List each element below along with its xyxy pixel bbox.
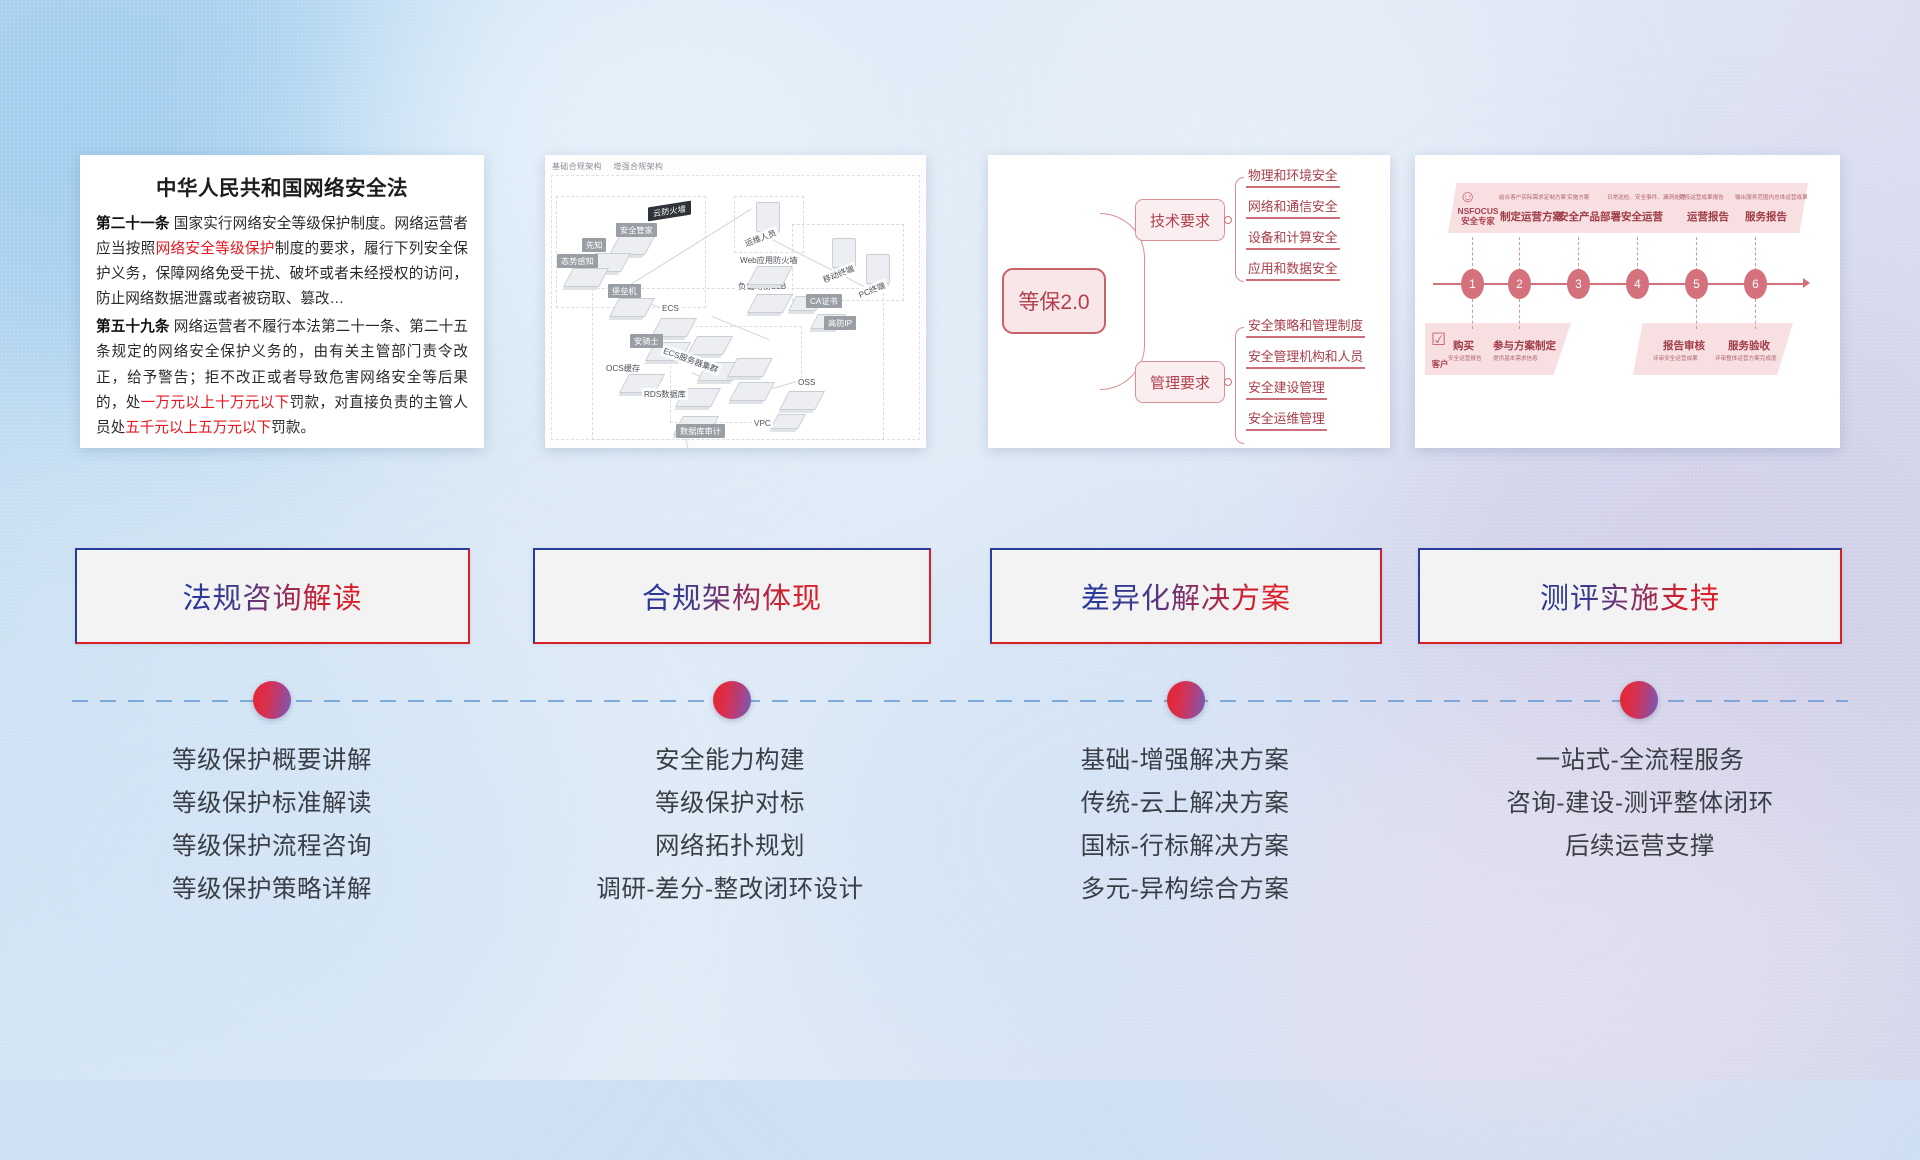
timeline-step-3: 3 xyxy=(1567,269,1590,299)
architecture-node-taishiganzhi: 态势感知 xyxy=(557,254,598,268)
section-title-label: 差异化解决方案 xyxy=(1081,575,1291,617)
timeline-stage-sub: 安全运营报告 xyxy=(1448,354,1482,362)
mindmap-collapse-dot[interactable] xyxy=(1224,378,1232,386)
law-article-number: 第五十九条 xyxy=(96,319,170,335)
architecture-tab-enhanced[interactable]: 增强合规架构 xyxy=(613,162,663,171)
timeline-tick xyxy=(1755,299,1756,329)
law-text-highlight: 五千元以上五万元以下 xyxy=(125,420,271,436)
architecture-node-vpc: VPC xyxy=(752,419,773,428)
mindmap-leaf: 安全运维管理 xyxy=(1246,408,1327,431)
timeline-stage-sub: 阶段运营成果报告 xyxy=(1679,193,1724,201)
timeline-tick xyxy=(1696,237,1697,271)
timeline-stage-title: 安全产品部署 xyxy=(1558,209,1621,224)
architecture-icon-pc xyxy=(866,254,890,284)
timeline-stage-title: 购买 xyxy=(1453,338,1474,353)
law-text-highlight: 网络安全等级保护 xyxy=(156,241,275,257)
timeline-step-4: 4 xyxy=(1626,269,1649,299)
law-title: 中华人民共和国网络安全法 xyxy=(96,171,468,201)
law-paragraph-21: 第二十一条 国家实行网络安全等级保护制度。网络运营者应当按照网络安全等级保护制度… xyxy=(96,212,468,312)
timeline-stage-sub: 提供基本需求信息 xyxy=(1493,354,1538,362)
architecture-node-baolei: 堡垒机 xyxy=(608,284,641,298)
list-item: 后续运营支撑 xyxy=(1430,826,1850,869)
customer-icon: ☑ xyxy=(1431,331,1446,348)
timeline-dashed-line xyxy=(72,700,1848,702)
section-title-label: 测评实施支持 xyxy=(1540,575,1720,617)
architecture-node-xianzhi: 先知 xyxy=(582,238,606,252)
card-djcp-mindmap[interactable]: 等保2.0 技术要求 管理要求 物理和环境安全 网络和通信安全 设备和计算安全 … xyxy=(988,155,1390,448)
mindmap-leaf: 设备和计算安全 xyxy=(1246,227,1340,250)
mindmap-leaf: 安全建设管理 xyxy=(1246,377,1327,400)
timeline-step-1: 1 xyxy=(1461,269,1484,299)
section-title-label: 法规咨询解读 xyxy=(182,575,362,617)
timeline-marker-3 xyxy=(1167,681,1205,719)
timeline-step-2: 2 xyxy=(1508,269,1531,299)
mindmap-root: 等保2.0 xyxy=(1002,268,1106,334)
list-item: 等级保护概要讲解 xyxy=(62,740,482,783)
architecture-node-gaofang-ip: 高防IP xyxy=(824,316,856,330)
timeline-marker-2 xyxy=(713,681,751,719)
architecture-node-anqishi: 安骑士 xyxy=(630,334,663,348)
architecture-node-waf: Web应用防火墙 xyxy=(738,254,800,266)
list-item: 等级保护标准解读 xyxy=(62,783,482,826)
card-compliance-architecture[interactable]: 基础合规架构 增强合规架构 xyxy=(545,155,926,448)
architecture-tab-basic[interactable]: 基础合规架构 xyxy=(552,162,602,171)
list-item: 传统-云上解决方案 xyxy=(975,783,1395,826)
timeline-stage-title: 安全运营 xyxy=(1621,209,1663,224)
mindmap-collapse-dot[interactable] xyxy=(1224,216,1232,224)
architecture-node-anquanguanjia: 安全管家 xyxy=(616,223,657,237)
timeline-connector xyxy=(0,690,1920,712)
list-item: 基础-增强解决方案 xyxy=(975,740,1395,783)
list-item: 一站式-全流程服务 xyxy=(1430,740,1850,783)
expert-icon: ☺ xyxy=(1459,188,1476,205)
timeline-tick xyxy=(1472,299,1473,329)
section-title-box-3[interactable]: 差异化解决方案 xyxy=(990,548,1382,644)
timeline-stage-sub: 实施方案 xyxy=(1567,193,1589,201)
timeline-step-5: 5 xyxy=(1685,269,1708,299)
timeline-stage-sub: 评审整体运营方案完成度 xyxy=(1715,354,1777,362)
preview-card-row: 中华人民共和国网络安全法 第二十一条 国家实行网络安全等级保护制度。网络运营者应… xyxy=(0,155,1920,448)
list-item: 调研-差分-整改闭环设计 xyxy=(520,869,940,912)
architecture-node-rds: RDS数据库 xyxy=(642,388,688,400)
law-text: 罚款。 xyxy=(271,420,315,436)
mindmap-leaf: 安全管理机构和人员 xyxy=(1246,346,1365,369)
section-title-box-4[interactable]: 测评实施支持 xyxy=(1418,548,1842,644)
timeline-step-6: 6 xyxy=(1744,269,1767,299)
section-detail-list-4: 一站式-全流程服务 咨询-建设-测评整体闭环 后续运营支撑 xyxy=(1430,740,1850,869)
list-item: 等级保护策略详解 xyxy=(62,869,482,912)
mindmap-branch-technical: 技术要求 xyxy=(1135,199,1225,241)
list-item: 多元-异构综合方案 xyxy=(975,869,1395,912)
mindmap-leaf: 安全策略和管理制度 xyxy=(1246,315,1365,338)
timeline-stage-sub: 日常巡检、安全事件、漏洞处理 xyxy=(1607,193,1685,201)
timeline-stage-title: 制定运营方案 xyxy=(1500,209,1563,224)
architecture-tabs: 基础合规架构 增强合规架构 xyxy=(552,161,672,172)
timeline-tick xyxy=(1637,237,1638,271)
timeline-stage-title: 服务验收 xyxy=(1728,338,1770,353)
timeline-marker-4 xyxy=(1620,681,1658,719)
timeline-tick xyxy=(1519,299,1520,329)
section-detail-list-3: 基础-增强解决方案 传统-云上解决方案 国标-行标解决方案 多元-异构综合方案 xyxy=(975,740,1395,912)
timeline-marker-1 xyxy=(253,681,291,719)
architecture-node-oss: OSS xyxy=(796,378,817,387)
architecture-node-ecs: ECS xyxy=(660,304,681,313)
architecture-node-ca: CA证书 xyxy=(806,294,842,308)
section-detail-list-2: 安全能力构建 等级保护对标 网络拓扑规划 调研-差分-整改闭环设计 xyxy=(520,740,940,912)
timeline-stage-title: 运营报告 xyxy=(1687,209,1729,224)
section-title-box-1[interactable]: 法规咨询解读 xyxy=(75,548,470,644)
list-item: 国标-行标解决方案 xyxy=(975,826,1395,869)
architecture-canvas: 云防火墙 安全管家 先知 态势感知 堡垒机 ECS 安骑士 xyxy=(551,175,920,440)
list-item: 咨询-建设-测评整体闭环 xyxy=(1430,783,1850,826)
timeline-axis-arrow xyxy=(1803,278,1810,288)
timeline-tick xyxy=(1472,237,1473,271)
slide-stage: 中华人民共和国网络安全法 第二十一条 国家实行网络安全等级保护制度。网络运营者应… xyxy=(0,0,1920,1080)
timeline-stage-sub: 输出服务范围内总体运营成果 xyxy=(1735,193,1808,201)
list-item: 网络拓扑规划 xyxy=(520,826,940,869)
section-title-box-2[interactable]: 合规架构体现 xyxy=(533,548,931,644)
list-item: 等级保护对标 xyxy=(520,783,940,826)
timeline-stage-sub: 结合客户实际需求定制方案 xyxy=(1499,193,1566,201)
architecture-diagram: 基础合规架构 增强合规架构 xyxy=(545,155,926,448)
timeline-tick xyxy=(1755,237,1756,271)
timeline-stage-title: 报告审核 xyxy=(1663,338,1705,353)
list-item: 等级保护流程咨询 xyxy=(62,826,482,869)
card-cybersecurity-law[interactable]: 中华人民共和国网络安全法 第二十一条 国家实行网络安全等级保护制度。网络运营者应… xyxy=(80,155,484,448)
section-detail-list-1: 等级保护概要讲解 等级保护标准解读 等级保护流程咨询 等级保护策略详解 xyxy=(62,740,482,912)
section-detail-row: 等级保护概要讲解 等级保护标准解读 等级保护流程咨询 等级保护策略详解 安全能力… xyxy=(0,740,1920,1000)
timeline-stage-sub: 评审安全运营成果 xyxy=(1653,354,1698,362)
law-paragraph-59: 第五十九条 网络运营者不履行本法第二十一条、第二十五条规定的网络安全保护义务的，… xyxy=(96,315,468,440)
mindmap-leaf: 网络和通信安全 xyxy=(1246,196,1340,219)
timeline-stage-title: 服务报告 xyxy=(1745,209,1787,224)
architecture-node-ocs: OCS缓存 xyxy=(604,362,642,374)
mindmap-leaf-connector xyxy=(1235,219,1244,282)
mindmap-leaf: 应用和数据安全 xyxy=(1246,258,1340,281)
timeline-tick xyxy=(1519,237,1520,271)
timeline-role-expert: NSFOCUS安全专家 xyxy=(1450,207,1506,226)
law-text-highlight: 一万元以上十万元以下 xyxy=(141,395,290,411)
mindmap-branch-management: 管理要求 xyxy=(1135,361,1225,403)
timeline-tick xyxy=(1696,299,1697,329)
timeline-stage-title: 参与方案制定 xyxy=(1493,338,1556,353)
section-title-label: 合规架构体现 xyxy=(642,575,822,617)
law-article-number: 第二十一条 xyxy=(96,216,170,232)
section-title-row: 法规咨询解读 合规架构体现 差异化解决方案 测评实施支持 xyxy=(0,548,1920,648)
card-nsfocus-timeline[interactable]: ☺ NSFOCUS安全专家 ☑ 客户 结合客户实际需求定制方案 制定运营方案 实… xyxy=(1415,155,1840,448)
mindmap-leaf: 物理和环境安全 xyxy=(1246,165,1340,188)
mindmap: 等保2.0 技术要求 管理要求 物理和环境安全 网络和通信安全 设备和计算安全 … xyxy=(988,155,1390,448)
list-item: 安全能力构建 xyxy=(520,740,940,783)
architecture-node-db-audit: 数据库审计 xyxy=(676,424,725,438)
timeline-tick xyxy=(1578,237,1579,271)
law-document: 中华人民共和国网络安全法 第二十一条 国家实行网络安全等级保护制度。网络运营者应… xyxy=(80,155,484,448)
mindmap-leaf-connector xyxy=(1235,381,1244,444)
service-timeline: ☺ NSFOCUS安全专家 ☑ 客户 结合客户实际需求定制方案 制定运营方案 实… xyxy=(1415,155,1840,448)
